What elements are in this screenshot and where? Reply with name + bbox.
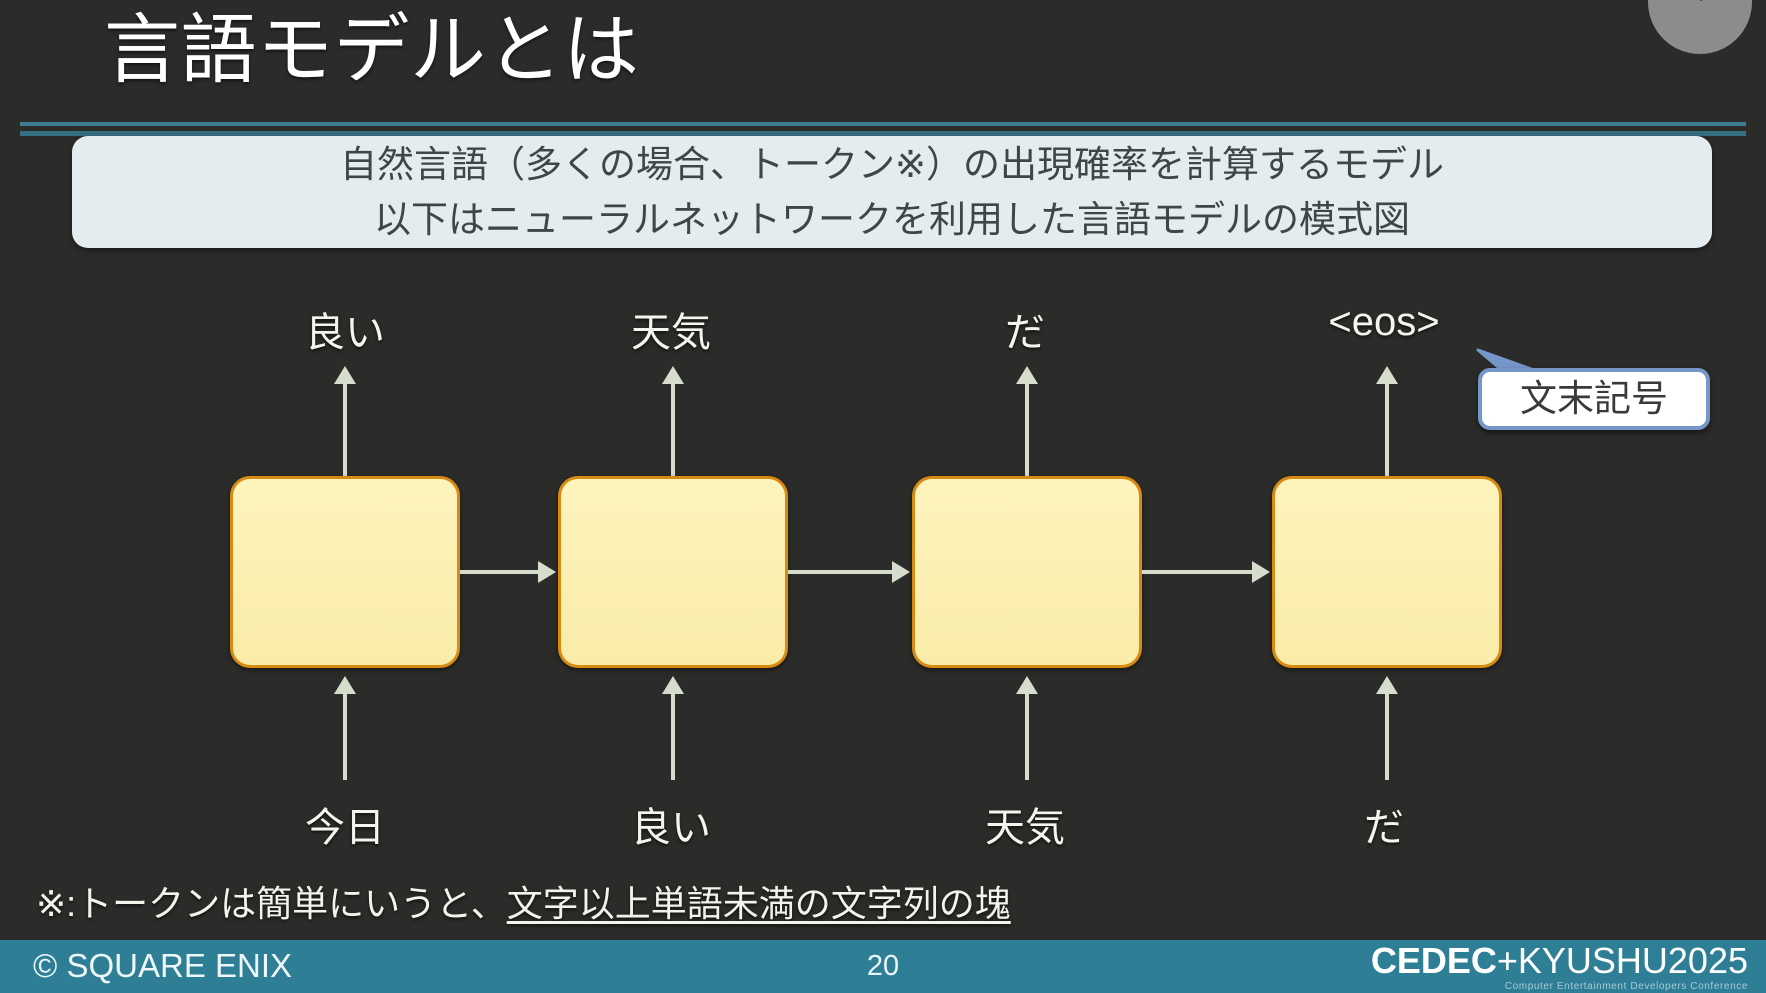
recurrent-arrow-shaft-1 (460, 570, 538, 574)
lead-in-line-2: 以下はニューラルネットワークを利用した言語モデルの模式図 (72, 192, 1712, 247)
page-title: 言語モデルとは (104, 2, 640, 99)
cedec-logo: CEDEC+KYUSHU2025 Computer Entertainment … (1371, 943, 1748, 992)
input-arrow-shaft-1 (343, 692, 347, 780)
rnn-cell-2 (558, 476, 788, 668)
input-arrow-head-4 (1376, 676, 1398, 694)
rnn-cell-4 (1272, 476, 1502, 668)
input-arrow-head-1 (334, 676, 356, 694)
recurrent-arrow-head-2 (892, 561, 910, 583)
lead-in-panel: 自然言語（多くの場合、トークン※）の出現確率を計算するモデル 以下はニューラルネ… (72, 136, 1712, 248)
output-arrow-shaft-4 (1385, 382, 1389, 476)
recurrent-arrow-head-3 (1252, 561, 1270, 583)
input-arrow-shaft-3 (1025, 692, 1029, 780)
cedec-logo-bold: CEDEC (1371, 940, 1497, 981)
callout-pointer-icon (1474, 346, 1564, 392)
recurrent-arrow-shaft-3 (1142, 570, 1252, 574)
lead-in-line-1: 自然言語（多くの場合、トークン※）の出現確率を計算するモデル (72, 136, 1712, 192)
cedec-logo-rest: +KYUSHU2025 (1497, 940, 1748, 981)
output-label-4: <eos> (1264, 300, 1504, 345)
input-label-3: 天気 (905, 795, 1145, 853)
output-arrow-shaft-1 (343, 382, 347, 476)
input-label-4: だ (1264, 795, 1504, 853)
callout-eos-note: 文末記号 (1478, 368, 1710, 430)
input-label-1: 今日 (225, 795, 465, 853)
rnn-cell-3 (912, 476, 1142, 668)
output-arrow-head-4 (1376, 366, 1398, 384)
input-arrow-shaft-2 (671, 692, 675, 780)
output-label-3: だ (905, 300, 1145, 358)
recurrent-arrow-head-1 (538, 561, 556, 583)
recurrent-arrow-shaft-2 (788, 570, 892, 574)
output-arrow-shaft-3 (1025, 382, 1029, 476)
input-arrow-head-2 (662, 676, 684, 694)
output-arrow-shaft-2 (671, 382, 675, 476)
output-arrow-head-2 (662, 366, 684, 384)
callout-text: 文末記号 (1482, 372, 1706, 426)
input-label-2: 良い (551, 795, 791, 853)
video-playback-control-icon[interactable] (1648, 0, 1752, 54)
title-divider-top (20, 122, 1746, 126)
input-arrow-head-3 (1016, 676, 1038, 694)
footnote-prefix: ※:トークンは簡単にいうと、 (36, 883, 507, 924)
output-arrow-head-1 (334, 366, 356, 384)
input-arrow-shaft-4 (1385, 692, 1389, 780)
slide-canvas: 言語モデルとは 自然言語（多くの場合、トークン※）の出現確率を計算するモデル 以… (0, 0, 1766, 993)
cedec-logo-tagline: Computer Entertainment Developers Confer… (1371, 982, 1748, 992)
rnn-cell-1 (230, 476, 460, 668)
video-control-hand-icon (1697, 0, 1721, 1)
footnote-underlined: 文字以上単語未満の文字列の塊 (507, 883, 1011, 924)
output-label-2: 天気 (551, 300, 791, 358)
footnote: ※:トークンは簡単にいうと、文字以上単語未満の文字列の塊 (36, 875, 1011, 927)
slide-footer: © SQUARE ENIX 20 CEDEC+KYUSHU2025 Comput… (0, 940, 1766, 993)
cedec-logo-wordmark: CEDEC+KYUSHU2025 (1371, 943, 1748, 979)
output-arrow-head-3 (1016, 366, 1038, 384)
output-label-1: 良い (225, 300, 465, 358)
